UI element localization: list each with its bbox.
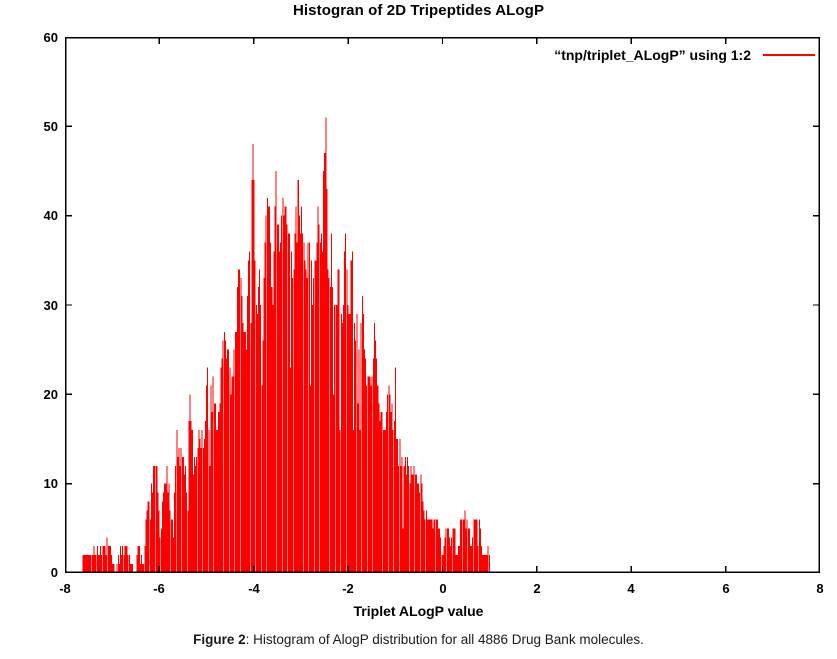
legend-label: “tnp/triplet_ALogP” using 1:2: [554, 47, 751, 63]
y-axis-tick-labels: 60 50 40 30 20 10 0: [0, 0, 58, 659]
figure-caption-text: : Histogram of AlogP distribution for al…: [246, 632, 644, 647]
legend: “tnp/triplet_ALogP” using 1:2: [470, 44, 815, 66]
figure-caption: Figure 2: Histogram of AlogP distributio…: [0, 632, 837, 647]
plot-area: [65, 37, 820, 573]
figure-caption-prefix: Figure 2: [193, 632, 246, 647]
x-tick-label-2: 2: [517, 581, 557, 596]
x-tick-label--4: -4: [234, 581, 274, 596]
y-tick-label-10: 10: [44, 476, 58, 491]
x-tick-label-8: 8: [800, 581, 837, 596]
x-tick-label--8: -8: [45, 581, 85, 596]
x-axis-title: Triplet ALogP value: [0, 603, 837, 619]
y-tick-label-40: 40: [44, 208, 58, 223]
x-tick-label-6: 6: [706, 581, 746, 596]
figure-root: Histogran of 2D Tripeptides ALogP 60 50 …: [0, 0, 837, 659]
y-tick-label-0: 0: [51, 565, 58, 580]
y-tick-label-60: 60: [44, 30, 58, 45]
x-tick-label--2: -2: [328, 581, 368, 596]
y-tick-label-30: 30: [44, 298, 58, 313]
x-tick-label--6: -6: [139, 581, 179, 596]
legend-line-sample: [763, 54, 815, 56]
histogram-series-impulses: [83, 117, 489, 573]
x-tick-label-0: 0: [423, 581, 463, 596]
histogram-plot: [65, 37, 820, 573]
chart-title: Histogran of 2D Tripeptides ALogP: [0, 2, 837, 19]
y-tick-label-20: 20: [44, 387, 58, 402]
y-tick-label-50: 50: [44, 119, 58, 134]
x-tick-label-4: 4: [611, 581, 651, 596]
histogram-bars: [83, 117, 489, 573]
